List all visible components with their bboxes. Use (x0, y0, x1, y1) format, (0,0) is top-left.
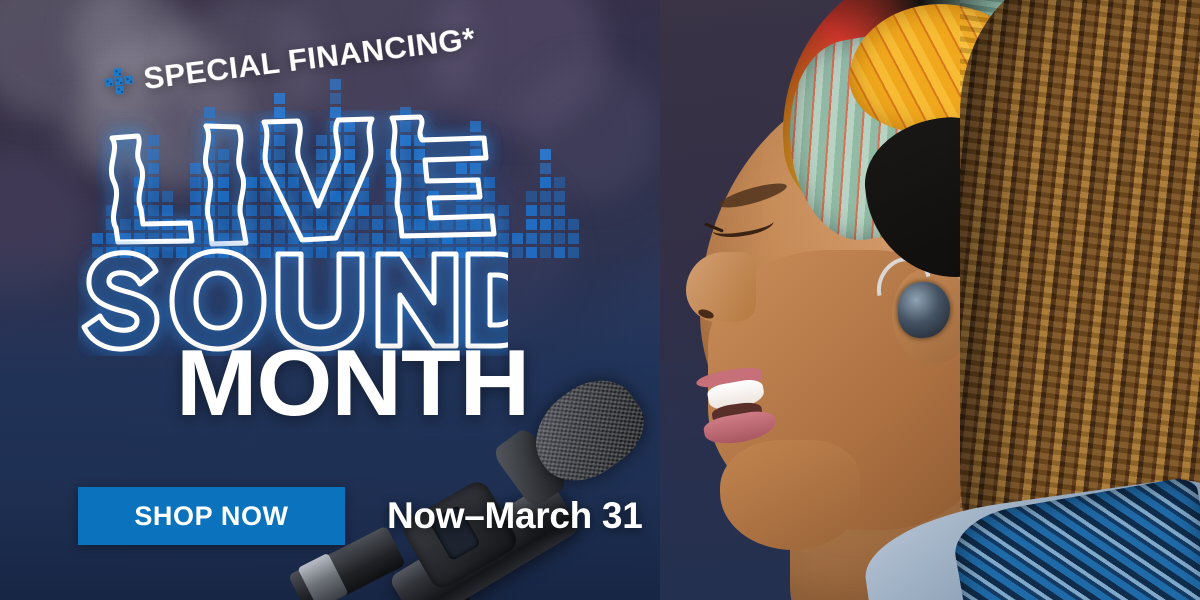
promo-banner: SPECIAL FINANCING* (0, 0, 1200, 600)
shop-now-button[interactable]: SHOP NOW (78, 487, 345, 545)
promo-dates: Now–March 31 (387, 495, 643, 537)
headline-group (96, 110, 716, 356)
headline-month: MONTH (176, 336, 529, 430)
headline-live (96, 110, 516, 255)
pixel-plus-icon (102, 65, 135, 98)
cta-row: SHOP NOW Now–March 31 (78, 487, 643, 545)
